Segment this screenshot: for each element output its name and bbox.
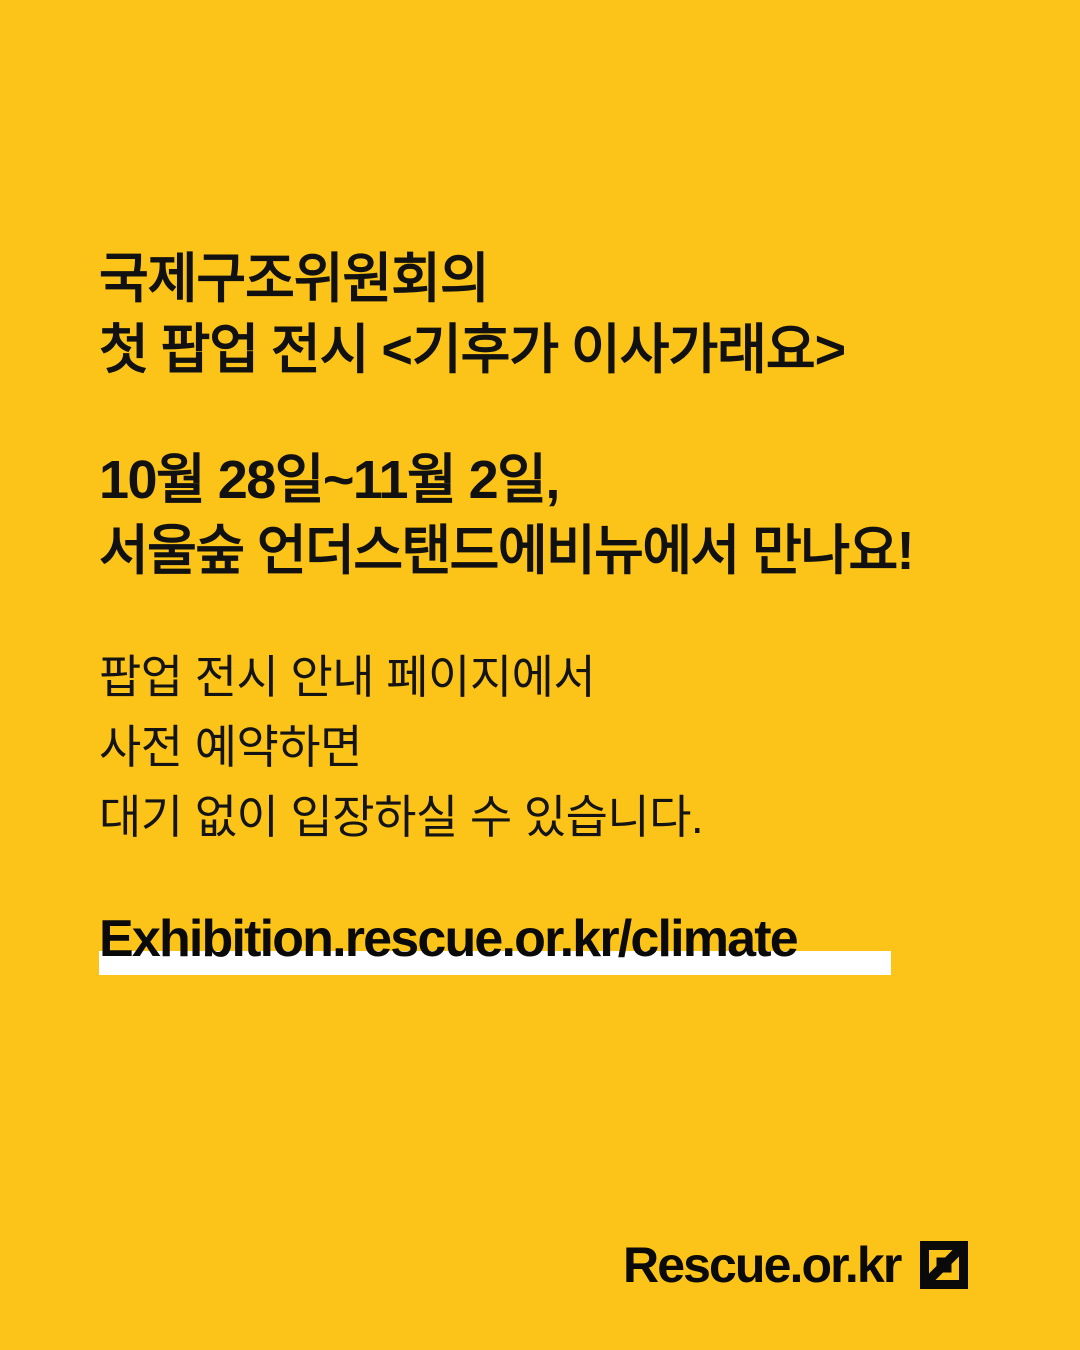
- brand-lockup[interactable]: Rescue.or.kr: [623, 1240, 968, 1290]
- headline-line-1: 국제구조위원회의: [99, 244, 999, 315]
- content-column: 국제구조위원회의 첫 팝업 전시 <기후가 이사가래요> 10월 28일~11월…: [99, 244, 999, 979]
- headline-line-2: 첫 팝업 전시 <기후가 이사가래요>: [99, 315, 999, 386]
- poster-canvas: 국제구조위원회의 첫 팝업 전시 <기후가 이사가래요> 10월 28일~11월…: [0, 0, 1080, 1350]
- body-line-1: 팝업 전시 안내 페이지에서: [99, 643, 999, 713]
- body-line-3: 대기 없이 입장하실 수 있습니다.: [99, 783, 999, 853]
- date-location: 10월 28일~11월 2일, 서울숲 언더스탠드에비뉴에서 만나요!: [99, 445, 999, 588]
- body-copy: 팝업 전시 안내 페이지에서 사전 예약하면 대기 없이 입장하실 수 있습니다…: [99, 643, 999, 853]
- location-line: 서울숲 언더스탠드에비뉴에서 만나요!: [99, 516, 999, 587]
- exhibition-url[interactable]: Exhibition.rescue.or.kr/climate: [99, 907, 891, 979]
- date-line: 10월 28일~11월 2일,: [99, 445, 999, 516]
- brand-wordmark[interactable]: Rescue.or.kr: [623, 1240, 900, 1290]
- url-text[interactable]: Exhibition.rescue.or.kr/climate: [99, 907, 891, 971]
- irc-arrow-logo-icon: [920, 1241, 968, 1289]
- body-line-2: 사전 예약하면: [99, 713, 999, 783]
- headline: 국제구조위원회의 첫 팝업 전시 <기후가 이사가래요>: [99, 244, 999, 387]
